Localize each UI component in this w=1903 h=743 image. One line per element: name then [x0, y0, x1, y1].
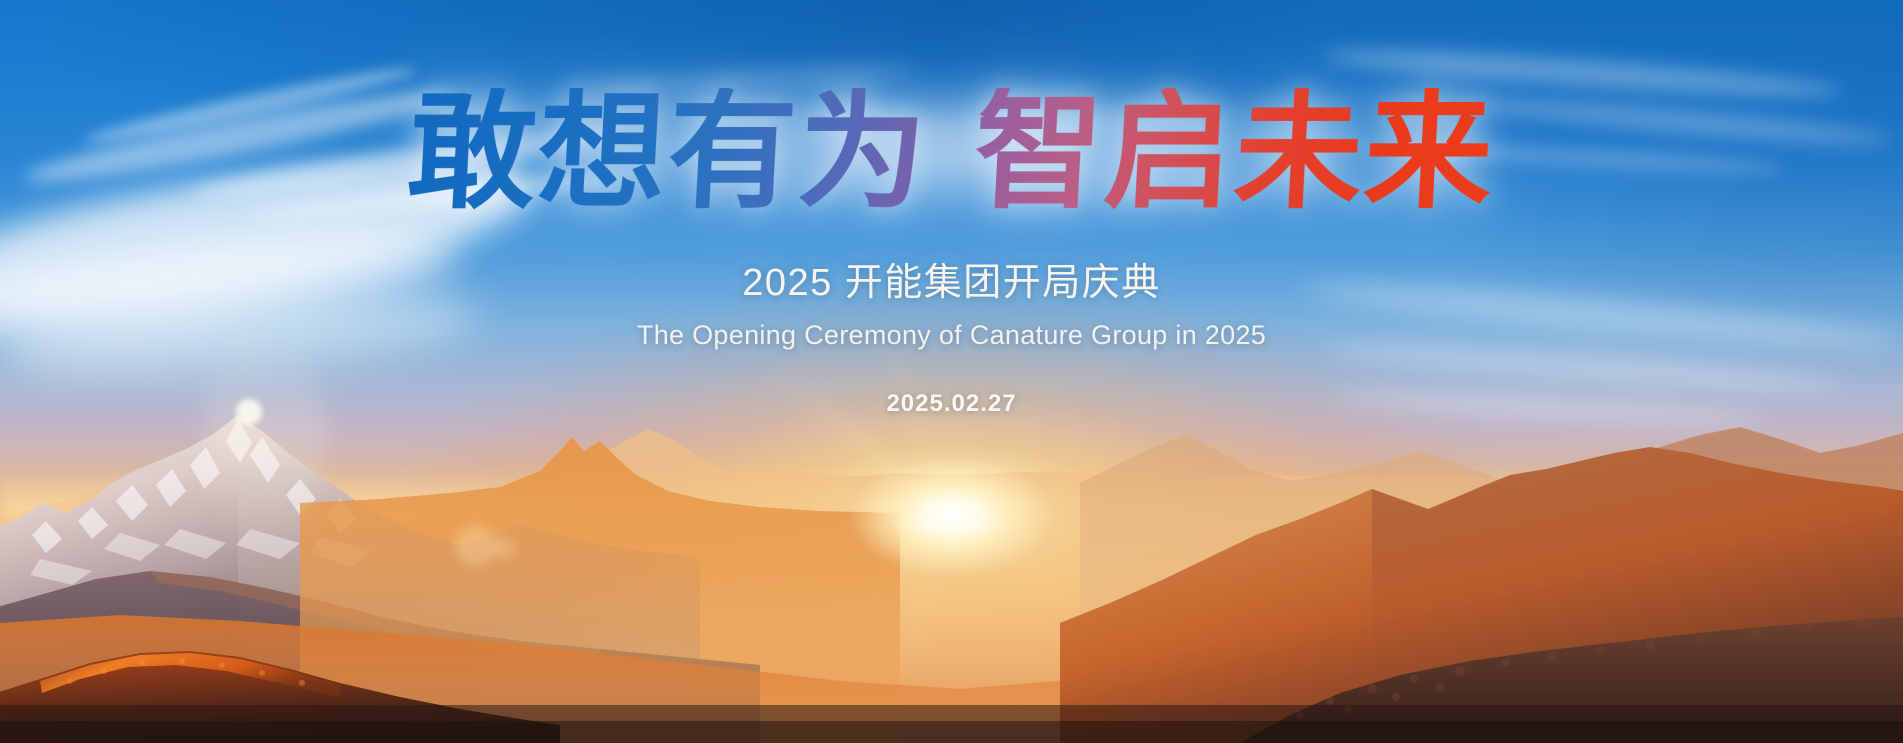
event-date: 2025.02.27 — [0, 390, 1903, 418]
subtitle-block: 2025 开能集团开局庆典 The Opening Ceremony of Ca… — [0, 258, 1903, 418]
subtitle-english: The Opening Ceremony of Canature Group i… — [0, 317, 1903, 353]
lens-flare-dot-2 — [492, 536, 516, 560]
headline-text: 敢想有为 智启未来 — [395, 88, 1508, 216]
headline-calligraphy: 敢想有为 智启未来 — [0, 88, 1903, 216]
event-banner: 敢想有为 智启未来 2025 开能集团开局庆典 The Opening Cere… — [0, 0, 1903, 743]
sun-core — [822, 441, 1082, 591]
lens-flare-dot-1 — [455, 525, 497, 567]
subtitle-chinese: 2025 开能集团开局庆典 — [0, 258, 1903, 309]
